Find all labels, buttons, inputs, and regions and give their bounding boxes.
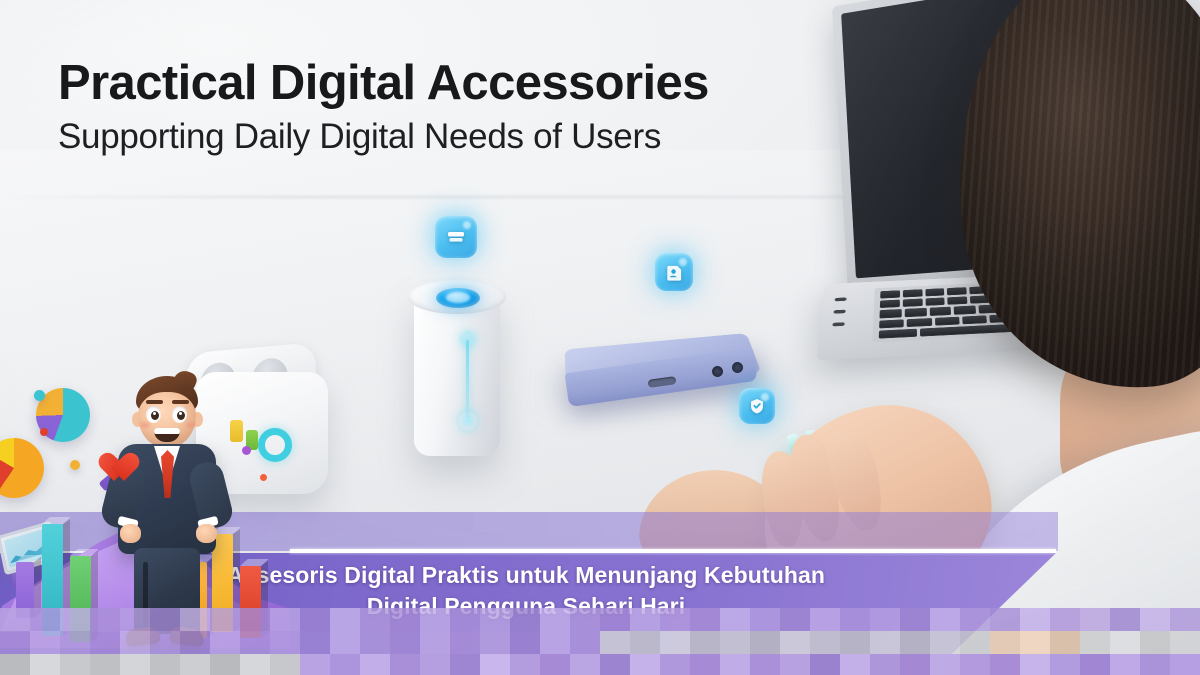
mosaic-tile	[150, 631, 180, 654]
mosaic-tile	[1050, 631, 1080, 654]
mosaic-tile	[450, 631, 480, 654]
mosaic-tile	[690, 631, 720, 654]
mosaic-tile	[540, 654, 570, 675]
mosaic-tile	[960, 631, 990, 654]
mosaic-tile	[120, 654, 150, 675]
mosaic-tile	[570, 654, 600, 675]
mosaic-tile	[420, 654, 450, 675]
mosaic-tile	[30, 654, 60, 675]
mosaic-tile	[360, 631, 390, 654]
mosaic-tile	[870, 654, 900, 675]
caption-banner-rule	[290, 549, 1056, 553]
mosaic-tile	[480, 654, 510, 675]
mosaic-tile	[690, 608, 720, 631]
mosaic-tile	[240, 654, 270, 675]
mosaic-tile	[960, 608, 990, 631]
headline-block: Practical Digital Accessories Supporting…	[58, 58, 818, 156]
mosaic-tile	[990, 631, 1020, 654]
mosaic-tile	[810, 631, 840, 654]
mosaic-tile	[870, 631, 900, 654]
mosaic-tile	[60, 608, 90, 631]
mosaic-tile	[270, 654, 300, 675]
mosaic-tile	[210, 654, 240, 675]
mosaic-tile	[630, 608, 660, 631]
mosaic-tile	[60, 631, 90, 654]
mosaic-tile	[300, 631, 330, 654]
mosaic-tile	[990, 654, 1020, 675]
mosaic-tile	[90, 608, 120, 631]
mosaic-tile	[360, 608, 390, 631]
mosaic-tile	[420, 631, 450, 654]
mosaic-tile	[780, 631, 810, 654]
mosaic-tile	[1170, 631, 1200, 654]
dot-red	[40, 428, 48, 436]
mosaic-tile	[750, 608, 780, 631]
mosaic-tile	[840, 654, 870, 675]
mosaic-tile	[1050, 654, 1080, 675]
mosaic-tile	[270, 631, 300, 654]
mosaic-tile	[720, 631, 750, 654]
mosaic-tile	[180, 631, 210, 654]
heart-icon	[106, 454, 140, 486]
mosaic-tile	[1080, 608, 1110, 631]
mosaic-tile	[0, 631, 30, 654]
mosaic-tile	[390, 608, 420, 631]
mosaic-tile	[480, 631, 510, 654]
mosaic-tile	[600, 608, 630, 631]
dot-yellow	[70, 460, 80, 470]
mosaic-tile	[510, 654, 540, 675]
mosaic-tile	[570, 631, 600, 654]
mosaic-tile	[1020, 654, 1050, 675]
mosaic-tile	[540, 631, 570, 654]
mosaic-tile	[60, 654, 90, 675]
mosaic-tile	[240, 631, 270, 654]
mosaic-tile	[900, 631, 930, 654]
mosaic-tile	[120, 608, 150, 631]
mosaic-tile	[1140, 631, 1170, 654]
mosaic-tile	[1140, 654, 1170, 675]
mosaic-tile	[930, 608, 960, 631]
promo-banner-image: Practical Digital Accessories Supporting…	[0, 0, 1200, 675]
dot-teal	[34, 390, 45, 401]
mosaic-tile	[180, 654, 210, 675]
mosaic-tile	[0, 654, 30, 675]
mosaic-tile	[1020, 631, 1050, 654]
mosaic-tile	[180, 608, 210, 631]
mosaic-tile	[1080, 654, 1110, 675]
mosaic-tile	[1140, 608, 1170, 631]
mosaic-tile	[390, 654, 420, 675]
mosaic-tile	[510, 608, 540, 631]
mosaic-tile	[540, 608, 570, 631]
mosaic-tile	[330, 608, 360, 631]
mosaic-tile	[660, 631, 690, 654]
mosaic-tile	[900, 654, 930, 675]
mosaic-tile	[840, 631, 870, 654]
mosaic-tile	[630, 654, 660, 675]
mosaic-tile	[270, 608, 300, 631]
mosaic-tile	[630, 631, 660, 654]
mosaic-tile	[330, 654, 360, 675]
mosaic-tile	[450, 608, 480, 631]
mosaic-tile	[0, 608, 30, 631]
mosaic-tile	[300, 654, 330, 675]
mosaic-tile	[780, 654, 810, 675]
mosaic-tile	[510, 631, 540, 654]
mosaic-tile	[750, 654, 780, 675]
mosaic-tile	[300, 608, 330, 631]
mosaic-tile	[1050, 608, 1080, 631]
mosaic-tile	[450, 654, 480, 675]
mosaic-tile	[210, 631, 240, 654]
mosaic-tile	[900, 608, 930, 631]
mosaic-tile	[750, 631, 780, 654]
mosaic-tile	[990, 608, 1020, 631]
mosaic-tile	[690, 654, 720, 675]
mosaic-tile	[240, 608, 270, 631]
mosaic-tile	[720, 654, 750, 675]
mosaic-tile	[600, 654, 630, 675]
mosaic-tile	[1170, 608, 1200, 631]
mosaic-tile	[1110, 654, 1140, 675]
mosaic-tile	[390, 631, 420, 654]
mosaic-tile	[600, 631, 630, 654]
mosaic-tile	[570, 608, 600, 631]
mosaic-tile	[90, 631, 120, 654]
mosaic-tile	[840, 608, 870, 631]
mosaic-tile	[330, 631, 360, 654]
mosaic-tile	[930, 654, 960, 675]
mosaic-tile	[930, 631, 960, 654]
mosaic-tile	[810, 608, 840, 631]
mosaic-tile	[1110, 608, 1140, 631]
mosaic-tile	[810, 654, 840, 675]
mosaic-tile	[30, 608, 60, 631]
mosaic-tile	[480, 608, 510, 631]
mosaic-tile	[420, 608, 450, 631]
mosaic-tile	[720, 608, 750, 631]
mosaic-tile	[360, 654, 390, 675]
page-subtitle: Supporting Daily Digital Needs of Users	[58, 118, 818, 156]
mosaic-tile	[1110, 631, 1140, 654]
mosaic-tile	[1080, 631, 1110, 654]
page-title: Practical Digital Accessories	[58, 58, 818, 109]
mosaic-tile	[1170, 654, 1200, 675]
mosaic-tile	[1020, 608, 1050, 631]
mosaic-tile	[150, 608, 180, 631]
mosaic-tile	[150, 654, 180, 675]
mosaic-tile	[660, 608, 690, 631]
privacy-pixelation-band	[0, 608, 1200, 675]
mosaic-tile	[960, 654, 990, 675]
mosaic-tile	[120, 631, 150, 654]
mosaic-tile	[30, 631, 60, 654]
mosaic-tile	[870, 608, 900, 631]
mosaic-tile	[780, 608, 810, 631]
mosaic-tile	[660, 654, 690, 675]
pie-chart-orange	[0, 438, 44, 498]
mosaic-tile	[210, 608, 240, 631]
mosaic-tile	[90, 654, 120, 675]
